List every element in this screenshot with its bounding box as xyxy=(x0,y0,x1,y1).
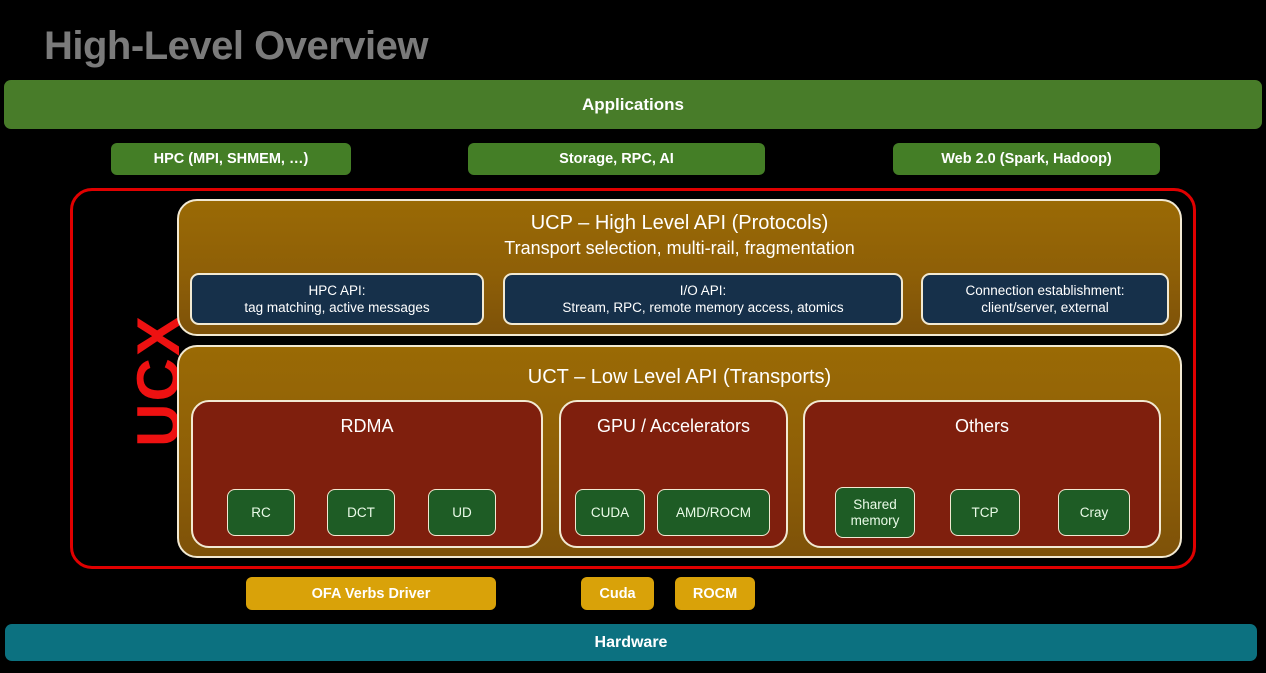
ucp-api-connection-line1: Connection establishment: xyxy=(965,282,1124,299)
ucp-subtitle: Transport selection, multi-rail, fragmen… xyxy=(179,238,1180,259)
driver-box-ofa-verbs: OFA Verbs Driver xyxy=(246,577,496,610)
transport-chip-shared-memory-line2: memory xyxy=(851,513,900,529)
applications-label: Applications xyxy=(582,95,684,115)
transport-chip-shared-memory-line1: Shared xyxy=(851,497,900,513)
transport-chip-ud: UD xyxy=(428,489,496,536)
transport-chip-amd-rocm: AMD/ROCM xyxy=(657,489,770,536)
driver-label-ofa-verbs: OFA Verbs Driver xyxy=(312,586,431,602)
consumer-box-web20: Web 2.0 (Spark, Hadoop) xyxy=(893,143,1160,175)
applications-layer: Applications xyxy=(4,80,1262,129)
hardware-layer: Hardware xyxy=(5,624,1257,661)
transport-chip-cuda: CUDA xyxy=(575,489,645,536)
transport-chip-rc: RC xyxy=(227,489,295,536)
consumer-box-storage: Storage, RPC, AI xyxy=(468,143,765,175)
driver-label-rocm: ROCM xyxy=(693,586,737,602)
ucp-api-box-hpc: HPC API: tag matching, active messages xyxy=(190,273,484,325)
driver-box-rocm: ROCM xyxy=(675,577,755,610)
consumer-box-hpc: HPC (MPI, SHMEM, …) xyxy=(111,143,351,175)
consumer-label-hpc: HPC (MPI, SHMEM, …) xyxy=(154,151,309,167)
transport-chip-tcp: TCP xyxy=(950,489,1020,536)
uct-category-gpu-title: GPU / Accelerators xyxy=(561,416,786,437)
ucp-api-box-io: I/O API: Stream, RPC, remote memory acce… xyxy=(503,273,903,325)
transport-chip-dct: DCT xyxy=(327,489,395,536)
transport-chip-cray: Cray xyxy=(1058,489,1130,536)
consumer-label-storage: Storage, RPC, AI xyxy=(559,151,674,167)
uct-title: UCT – Low Level API (Transports) xyxy=(179,366,1180,389)
uct-category-others-title: Others xyxy=(805,416,1159,437)
ucp-title: UCP – High Level API (Protocols) xyxy=(179,212,1180,235)
page-title: High-Level Overview xyxy=(44,20,744,72)
driver-label-cuda: Cuda xyxy=(599,586,635,602)
ucp-api-io-line1: I/O API: xyxy=(680,282,727,299)
ucp-api-hpc-line1: HPC API: xyxy=(308,282,365,299)
uct-category-rdma-title: RDMA xyxy=(193,416,541,437)
transport-chip-shared-memory: Shared memory xyxy=(835,487,915,538)
ucp-api-hpc-line2: tag matching, active messages xyxy=(244,299,429,316)
driver-box-cuda: Cuda xyxy=(581,577,654,610)
ucp-api-io-line2: Stream, RPC, remote memory access, atomi… xyxy=(562,299,843,316)
consumer-label-web20: Web 2.0 (Spark, Hadoop) xyxy=(941,151,1112,167)
ucp-api-box-connection: Connection establishment: client/server,… xyxy=(921,273,1169,325)
hardware-label: Hardware xyxy=(595,634,668,652)
ucp-api-connection-line2: client/server, external xyxy=(981,299,1109,316)
